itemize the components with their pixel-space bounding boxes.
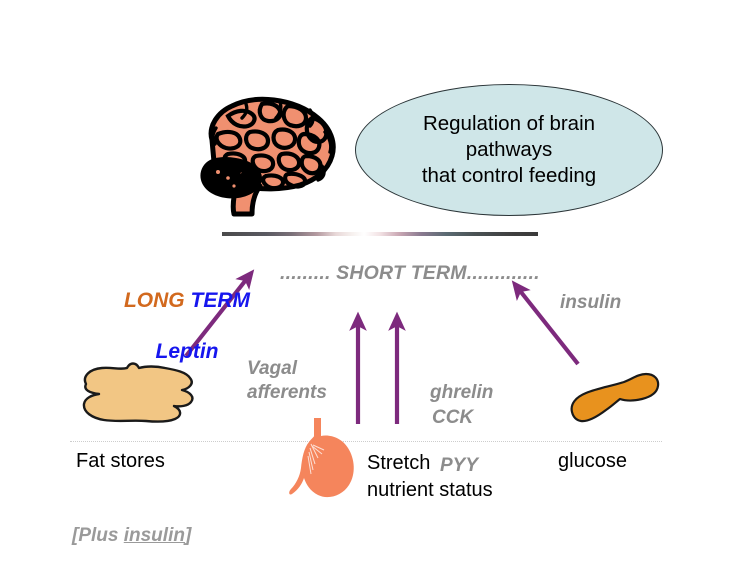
divider-bar bbox=[222, 232, 538, 236]
plus-insulin-underlined: insulin bbox=[124, 525, 185, 546]
slide-canvas: Regulation of brain pathways that contro… bbox=[0, 0, 735, 585]
insulin-label: insulin bbox=[560, 292, 621, 314]
fat-tissue-icon bbox=[72, 356, 202, 434]
plus-suffix: ] bbox=[185, 525, 191, 546]
brain-pathways-callout: Regulation of brain pathways that contro… bbox=[355, 84, 663, 216]
long-term-label: LONG TERM Leptin bbox=[72, 262, 302, 365]
vagal-afferents-label: Vagal afferents bbox=[247, 357, 327, 406]
plus-insulin-note: [Plus insulin] bbox=[72, 503, 191, 547]
plus-prefix: [Plus bbox=[72, 525, 124, 546]
stretch-nutrient-label: Stretch nutrient status bbox=[367, 450, 493, 503]
leptin-word: Leptin bbox=[156, 340, 219, 363]
ghrelin-label: ghrelin bbox=[430, 382, 493, 403]
pancreas-icon bbox=[566, 368, 676, 430]
long-word: LONG bbox=[124, 289, 185, 312]
cck-label: CCK bbox=[430, 406, 493, 430]
baseline-divider bbox=[70, 441, 662, 442]
callout-text: Regulation of brain pathways that contro… bbox=[408, 111, 610, 190]
fat-stores-label: Fat stores bbox=[76, 450, 165, 473]
brain-icon bbox=[182, 82, 362, 222]
short-term-label: ......... SHORT TERM............. bbox=[280, 262, 540, 285]
glucose-label: glucose bbox=[558, 450, 627, 473]
term-word: TERM bbox=[191, 289, 251, 312]
stomach-icon bbox=[288, 418, 360, 516]
